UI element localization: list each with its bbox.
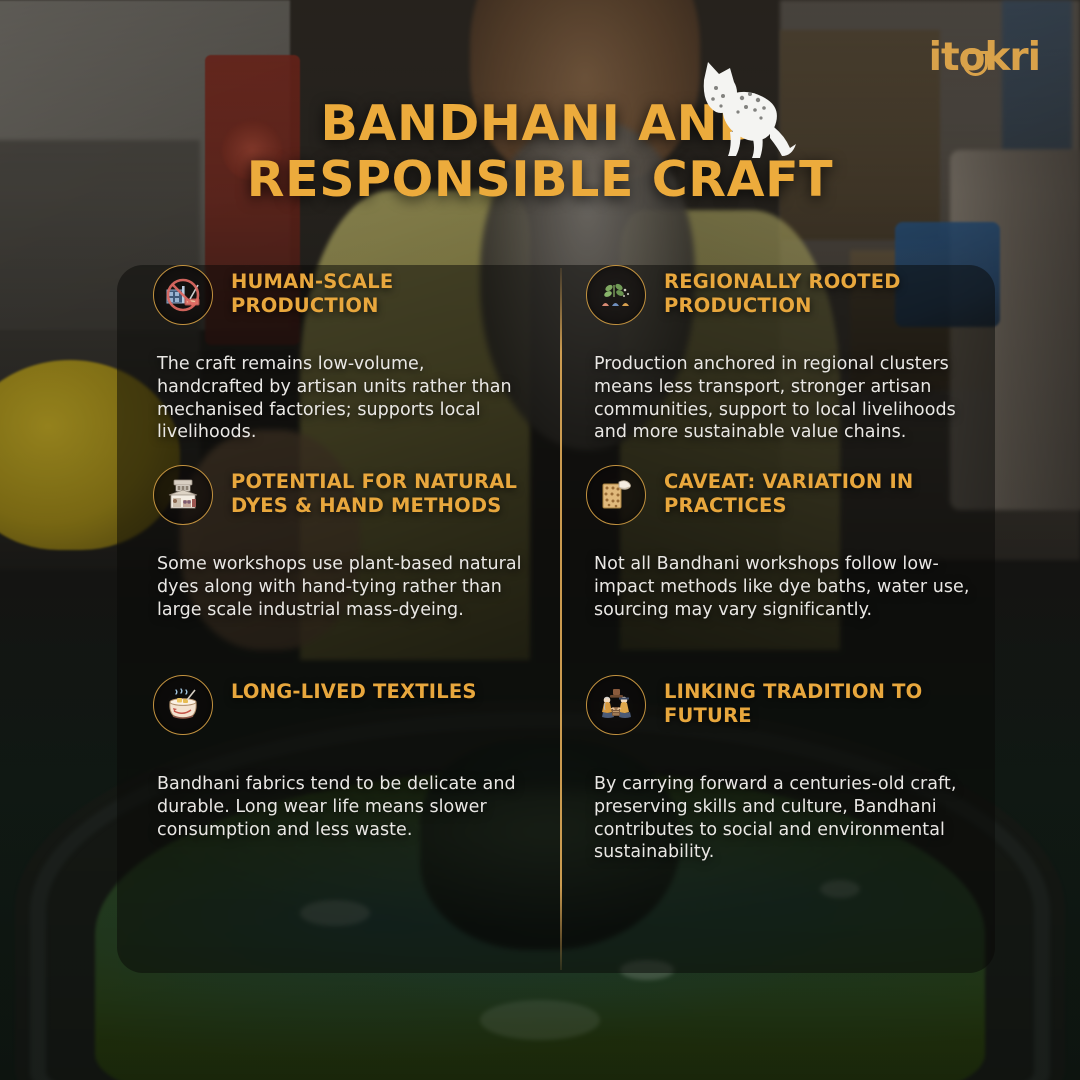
benefit-card-caveat-variation-in-practices: CAVEAT: VARIATION IN PRACTICES Not all B… [560,465,995,675]
benefit-title: LONG-LIVED TEXTILES [231,675,477,704]
benefit-title: HUMAN-SCALE PRODUCTION [231,265,531,318]
benefit-body: Not all Bandhani workshops follow low-im… [594,553,973,621]
seedling-soil-icon [586,265,646,325]
workshop-building-icon [153,465,213,525]
benefit-body: Bandhani fabrics tend to be delicate and… [157,773,534,841]
brand-logo[interactable]: itokri [929,38,1040,77]
benefit-header: HUMAN-SCALE PRODUCTION [153,265,534,325]
benefit-title: LINKING TRADITION TO FUTURE [664,675,954,728]
benefit-body: Production anchored in regional clusters… [594,353,973,444]
benefit-title: REGIONALLY ROOTED PRODUCTION [664,265,954,318]
two-artisans-icon [586,675,646,735]
cat-illustration-icon [686,52,806,162]
benefit-body: The craft remains low-volume, handcrafte… [157,353,534,444]
benefit-card-long-lived-textiles: LONG-LIVED TEXTILES Bandhani fabrics ten… [117,675,560,973]
benefit-header: LONG-LIVED TEXTILES [153,675,534,735]
benefit-header: REGIONALLY ROOTED PRODUCTION [586,265,973,325]
benefit-header: CAVEAT: VARIATION IN PRACTICES [586,465,973,525]
benefits-grid: HUMAN-SCALE PRODUCTION The craft remains… [117,265,995,973]
benefit-title: POTENTIAL FOR NATURAL DYES & HAND METHOD… [231,465,531,518]
benefit-card-human-scale-production: HUMAN-SCALE PRODUCTION The craft remains… [117,265,560,465]
page-title: BANDHANI AND RESPONSIBLE CRAFT [0,96,1080,208]
benefit-header: LINKING TRADITION TO FUTURE [586,675,973,735]
benefit-card-natural-dyes-hand-methods: POTENTIAL FOR NATURAL DYES & HAND METHOD… [117,465,560,675]
benefit-header: POTENTIAL FOR NATURAL DYES & HAND METHOD… [153,465,534,525]
benefit-title: CAVEAT: VARIATION IN PRACTICES [664,465,954,518]
basket-bowl-icon [963,51,988,76]
benefit-body: By carrying forward a centuries-old craf… [594,773,973,864]
steaming-dye-pot-icon [153,675,213,735]
benefit-card-regionally-rooted-production: REGIONALLY ROOTED PRODUCTION Production … [560,265,995,465]
infographic-canvas: itokri BANDHANI AND RESPONSIBLE CRAFT [0,0,1080,1080]
hand-holding-fabric-icon [586,465,646,525]
no-factory-icon [153,265,213,325]
benefit-body: Some workshops use plant-based natural d… [157,553,534,621]
benefit-card-linking-tradition-to-future: LINKING TRADITION TO FUTURE By carrying … [560,675,995,973]
